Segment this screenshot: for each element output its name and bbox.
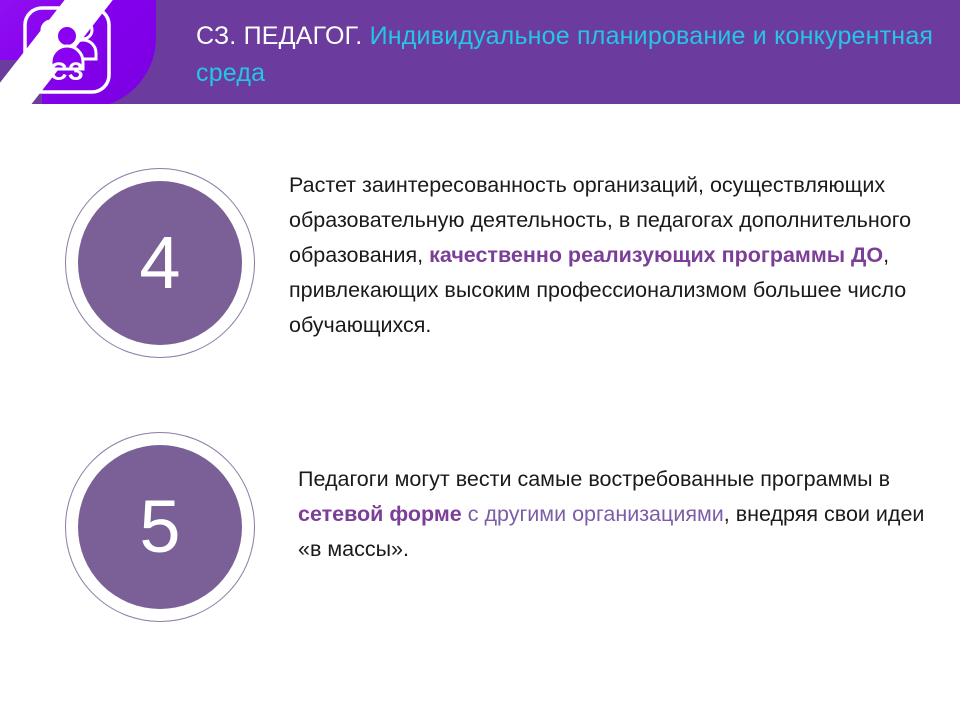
item-2-paragraph: Педагоги могут вести самые востребованны…: [298, 462, 938, 567]
item-1-segment-2-highlight: качественно реализующих программы ДО: [429, 243, 883, 267]
number-badge-4: 4: [65, 168, 255, 358]
slide-root: СЗ СЗ. ПЕДАГОГ. Индивидуальное планирова…: [0, 0, 960, 720]
item-2-segment-2-highlight: сетевой форме: [298, 502, 462, 526]
logo-label: СЗ: [22, 58, 112, 87]
number-badge-5: 5: [65, 432, 255, 622]
number-badge-value: 4: [139, 226, 180, 300]
item-1-paragraph: Растет заинтересованность организаций, о…: [289, 168, 934, 343]
number-badge-value: 5: [139, 490, 180, 564]
item-2-segment-3-highlight: с другими организациями: [462, 502, 724, 526]
page-title: СЗ. ПЕДАГОГ. Индивидуальное планирование…: [196, 18, 936, 92]
number-badge-disc: 5: [78, 445, 242, 609]
number-badge-disc: 4: [78, 181, 242, 345]
item-2-segment-1: Педагоги могут вести самые востребованны…: [298, 467, 890, 491]
page-title-prefix: СЗ. ПЕДАГОГ.: [196, 22, 362, 50]
slide-header: СЗ СЗ. ПЕДАГОГ. Индивидуальное планирова…: [0, 0, 960, 104]
logo-badge: СЗ: [22, 6, 112, 94]
